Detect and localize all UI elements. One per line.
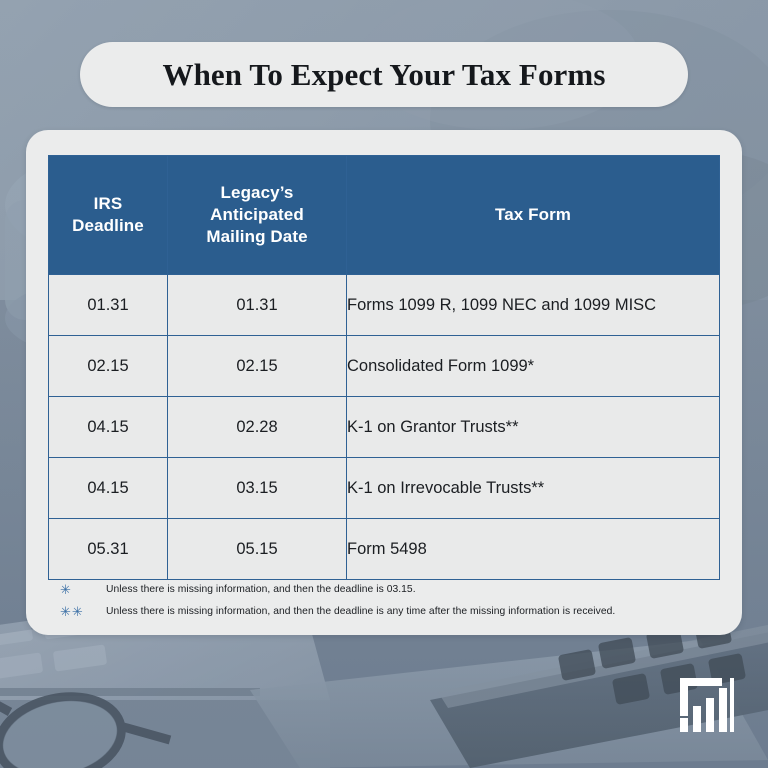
table-row: 04.15 03.15 K-1 on Irrevocable Trusts** — [49, 458, 720, 519]
column-header-irs-deadline: IRS Deadline — [49, 156, 168, 275]
bar-chart-logo — [676, 674, 738, 736]
footnote-text: Unless there is missing information, and… — [106, 606, 615, 617]
column-header-mailing-date: Legacy’s Anticipated Mailing Date — [168, 156, 347, 275]
header-line: Anticipated — [168, 204, 346, 226]
header-line: Mailing Date — [168, 226, 346, 248]
table-header-row: IRS Deadline Legacy’s Anticipated Mailin… — [49, 156, 720, 275]
double-asterisk-icon: ✳✳ — [60, 605, 106, 618]
header-line: Deadline — [49, 215, 167, 237]
table-row: 05.31 05.15 Form 5498 — [49, 519, 720, 580]
cell-tax-form: Forms 1099 R, 1099 NEC and 1099 MISC — [347, 275, 720, 336]
column-header-tax-form: Tax Form — [347, 156, 720, 275]
header-line: IRS — [49, 193, 167, 215]
footnote-text: Unless there is missing information, and… — [106, 584, 416, 595]
tax-forms-table: IRS Deadline Legacy’s Anticipated Mailin… — [48, 155, 720, 580]
cell-tax-form: Consolidated Form 1099* — [347, 336, 720, 397]
cell-mailing-date: 01.31 — [168, 275, 347, 336]
table-header: IRS Deadline Legacy’s Anticipated Mailin… — [49, 156, 720, 275]
footnote-item: ✳ Unless there is missing information, a… — [60, 578, 710, 600]
cell-mailing-date: 05.15 — [168, 519, 347, 580]
cell-mailing-date: 03.15 — [168, 458, 347, 519]
header-line: Tax Form — [347, 204, 719, 226]
cell-tax-form: K-1 on Irrevocable Trusts** — [347, 458, 720, 519]
cell-mailing-date: 02.28 — [168, 397, 347, 458]
cell-mailing-date: 02.15 — [168, 336, 347, 397]
header-line: Legacy’s — [168, 182, 346, 204]
cell-irs-deadline: 01.31 — [49, 275, 168, 336]
page-title-pill: When To Expect Your Tax Forms — [80, 42, 688, 107]
asterisk-icon: ✳ — [60, 583, 106, 596]
table-row: 01.31 01.31 Forms 1099 R, 1099 NEC and 1… — [49, 275, 720, 336]
table-row: 02.15 02.15 Consolidated Form 1099* — [49, 336, 720, 397]
cell-irs-deadline: 05.31 — [49, 519, 168, 580]
cell-tax-form: K-1 on Grantor Trusts** — [347, 397, 720, 458]
cell-irs-deadline: 02.15 — [49, 336, 168, 397]
table-body: 01.31 01.31 Forms 1099 R, 1099 NEC and 1… — [49, 275, 720, 580]
table-row: 04.15 02.28 K-1 on Grantor Trusts** — [49, 397, 720, 458]
cell-irs-deadline: 04.15 — [49, 458, 168, 519]
cell-tax-form: Form 5498 — [347, 519, 720, 580]
footnotes: ✳ Unless there is missing information, a… — [60, 578, 710, 622]
page-title: When To Expect Your Tax Forms — [162, 57, 605, 93]
cell-irs-deadline: 04.15 — [49, 397, 168, 458]
footnote-item: ✳✳ Unless there is missing information, … — [60, 600, 710, 622]
